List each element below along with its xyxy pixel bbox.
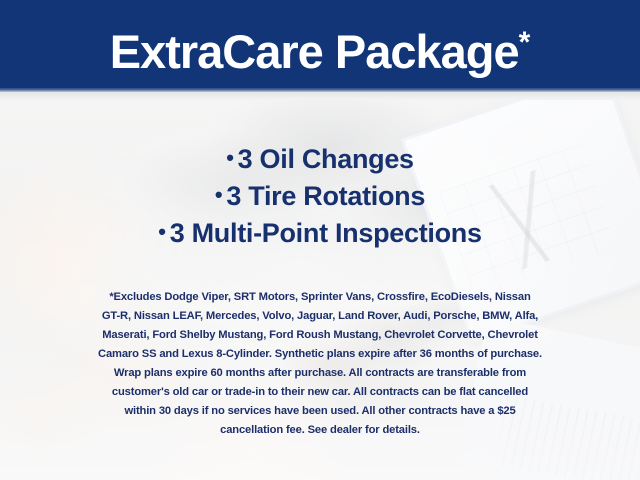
list-item: •3 Oil Changes xyxy=(0,140,640,177)
disclaimer-text: *Excludes Dodge Viper, SRT Motors, Sprin… xyxy=(28,288,612,440)
disclaimer-line: Wrap plans expire 60 months after purcha… xyxy=(28,364,612,383)
bullet-dot-icon: • xyxy=(158,219,169,244)
disclaimer-line: Camaro SS and Lexus 8-Cylinder. Syntheti… xyxy=(28,345,612,364)
bullet-dot-icon: • xyxy=(215,182,226,207)
disclaimer-line: within 30 days if no services have been … xyxy=(28,402,612,421)
list-item: •3 Tire Rotations xyxy=(0,177,640,214)
header-underline xyxy=(0,88,640,92)
disclaimer-line: *Excludes Dodge Viper, SRT Motors, Sprin… xyxy=(28,288,612,307)
list-item-label: 3 Multi-Point Inspections xyxy=(170,218,482,248)
disclaimer-line: Maserati, Ford Shelby Mustang, Ford Rous… xyxy=(28,326,612,345)
page-title-asterisk: * xyxy=(519,26,531,59)
benefits-list: •3 Oil Changes •3 Tire Rotations •3 Mult… xyxy=(0,140,640,251)
disclaimer-line: cancellation fee. See dealer for details… xyxy=(28,421,612,440)
extracare-package-ad: ExtraCare Package* •3 Oil Changes •3 Tir… xyxy=(0,0,640,480)
list-item: •3 Multi-Point Inspections xyxy=(0,214,640,251)
disclaimer-line: customer's old car or trade-in to their … xyxy=(28,383,612,402)
page-title: ExtraCare Package* xyxy=(0,14,640,81)
list-item-label: 3 Oil Changes xyxy=(238,144,414,174)
list-item-label: 3 Tire Rotations xyxy=(226,181,425,211)
header-banner: ExtraCare Package* xyxy=(0,0,640,88)
bullet-dot-icon: • xyxy=(226,145,237,170)
page-title-text: ExtraCare Package xyxy=(110,25,519,78)
disclaimer-line: GT-R, Nissan LEAF, Mercedes, Volvo, Jagu… xyxy=(28,307,612,326)
header-light-band xyxy=(0,92,640,100)
